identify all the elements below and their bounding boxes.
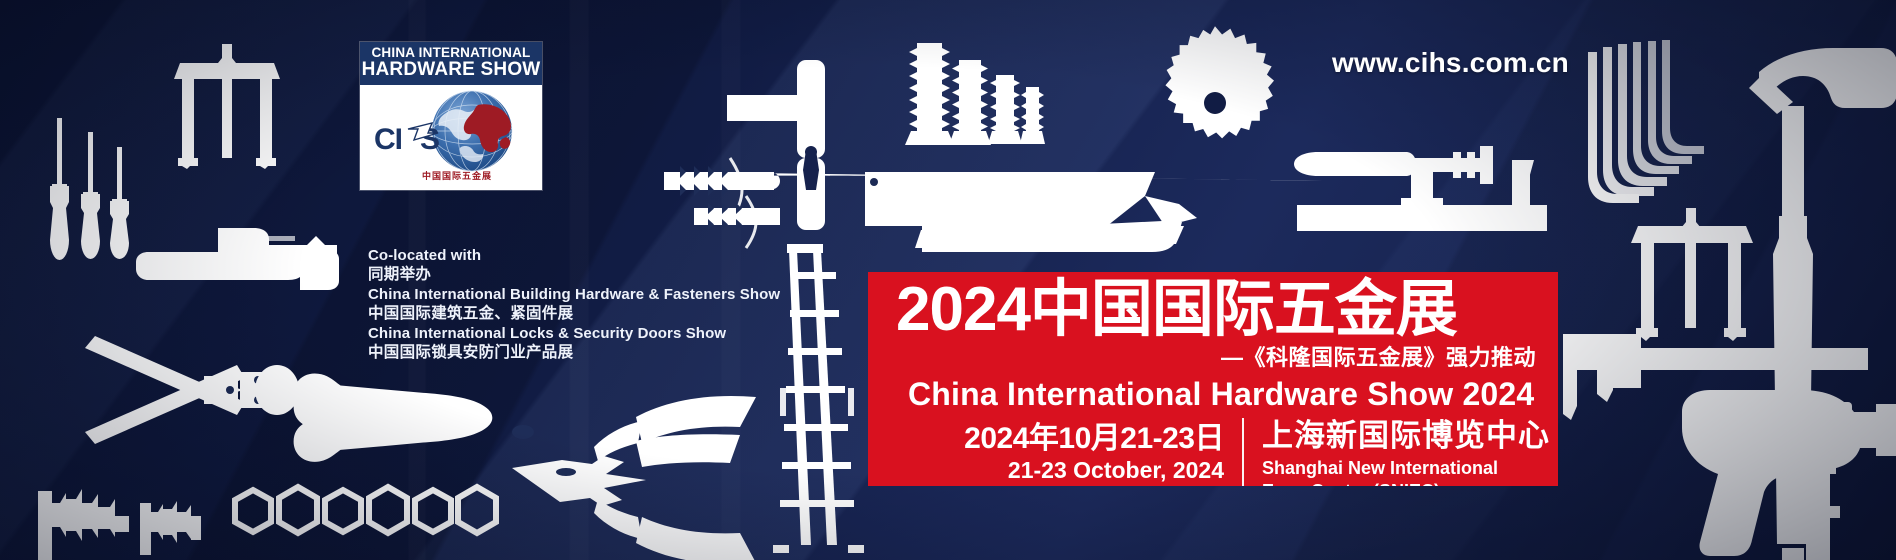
logo-line1: CHINA INTERNATIONAL [360, 46, 542, 60]
website-url[interactable]: www.cihs.com.cn [1332, 47, 1569, 79]
venue-name-cn: 上海新国际博览中心 [1262, 418, 1550, 454]
event-title-en: China International Hardware Show 2024 [908, 376, 1534, 412]
colocated-shows-block: Co-located with 同期举办 China International… [368, 246, 780, 363]
svg-text:CI: CI [374, 123, 402, 156]
colocated-show-2-cn: 中国国际锁具安防门业产品展 [368, 343, 780, 363]
cihs-logo[interactable]: CHINA INTERNATIONAL HARDWARE SHOW [360, 42, 542, 190]
colocated-show-1-cn: 中国国际建筑五金、紧固件展 [368, 304, 780, 324]
event-date-en: 21-23 October, 2024 [884, 456, 1224, 484]
venue-name-en-l2: Expo Centre (SNIEC) [1262, 480, 1550, 486]
cihs-banner: CHINA INTERNATIONAL HARDWARE SHOW [0, 0, 1896, 560]
vertical-divider [1242, 418, 1244, 486]
event-subtitle-cn: —《科隆国际五金展》强力推动 [1221, 346, 1536, 370]
logo-line2: HARDWARE SHOW [360, 60, 542, 80]
colocated-show-2-en: China International Locks & Security Doo… [368, 324, 780, 343]
svg-text:中国国际五金展: 中国国际五金展 [422, 170, 492, 181]
logo-title-block: CHINA INTERNATIONAL HARDWARE SHOW [360, 42, 542, 85]
event-dates: 2024年10月21-23日 21-23 October, 2024 [884, 422, 1224, 484]
event-info-panel: 2024中国国际五金展 —《科隆国际五金展》强力推动 China Interna… [868, 272, 1558, 486]
logo-globe-mark: CI S 中国国际五金展 [360, 85, 542, 185]
event-venue: 上海新国际博览中心 Shanghai New International Exp… [1262, 418, 1550, 486]
venue-name-en-l1: Shanghai New International [1262, 457, 1550, 480]
event-title-cn: 2024中国国际五金展 [896, 278, 1457, 342]
event-date-cn: 2024年10月21-23日 [884, 422, 1224, 456]
colocated-show-1-en: China International Building Hardware & … [368, 285, 780, 304]
colocated-heading-en: Co-located with [368, 246, 780, 265]
colocated-heading-cn: 同期举办 [368, 265, 780, 285]
